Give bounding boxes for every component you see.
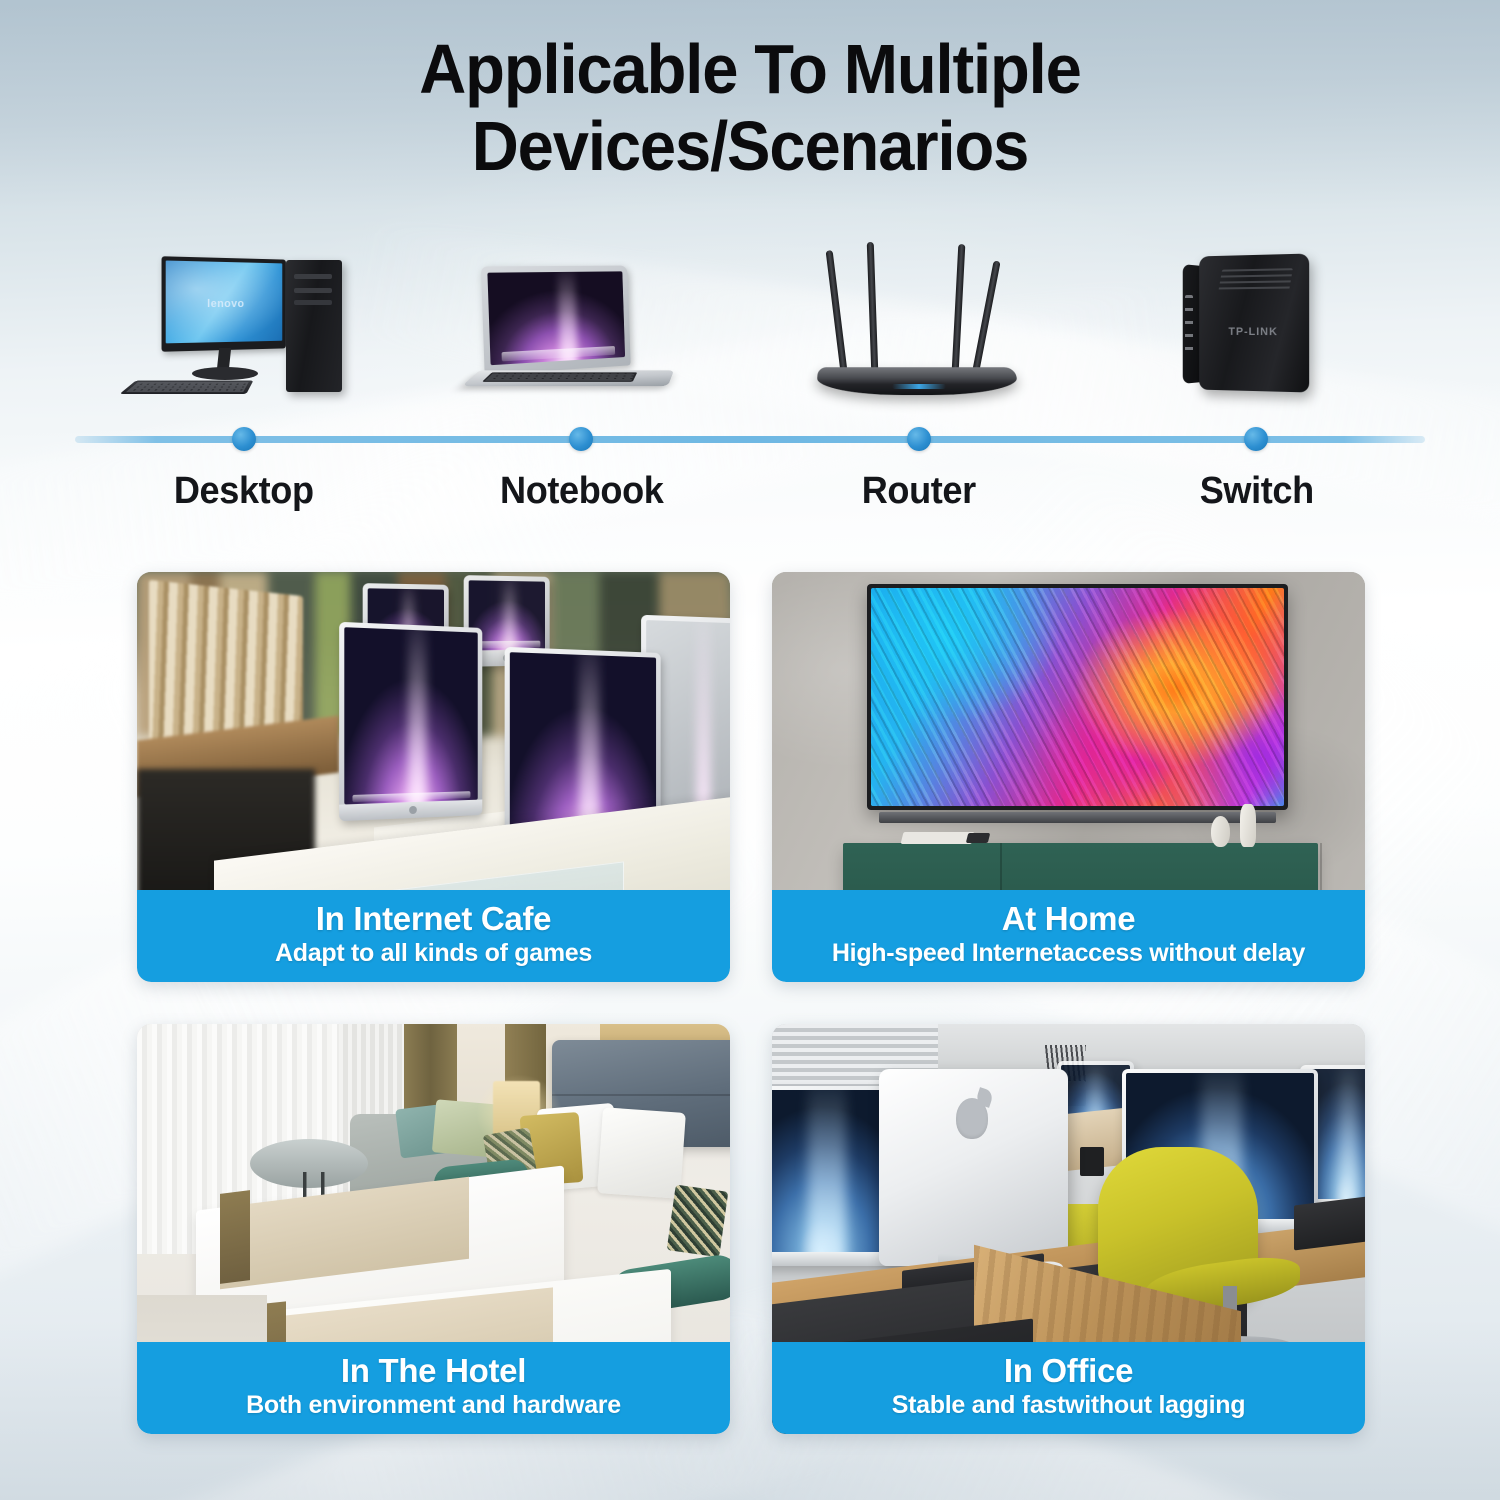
device-timeline <box>75 432 1425 446</box>
device-label-notebook: Notebook <box>421 470 742 522</box>
router-body <box>816 367 1018 395</box>
scenario-caption-in-office: In Office Stable and fastwithout lagging <box>772 1342 1365 1434</box>
scenario-card-in-office[interactable]: In Office Stable and fastwithout lagging <box>772 1024 1365 1434</box>
scenario-caption-at-home: At Home High-speed Internetaccess withou… <box>772 890 1365 982</box>
scenario-subtitle: High-speed Internetaccess without delay <box>786 939 1351 968</box>
router-antenna <box>973 260 1001 371</box>
scenario-card-row: In The Hotel Both environment and hardwa… <box>137 1024 1365 1434</box>
bed-runner-stripe <box>220 1190 250 1284</box>
screen-dock <box>501 346 614 361</box>
page-content: Applicable To Multiple Devices/Scenarios… <box>0 0 1500 1500</box>
router-led-strip <box>892 384 946 389</box>
device-illustration-row: lenovo <box>75 218 1425 414</box>
device-label-router: Router <box>758 470 1079 522</box>
scenario-caption-in-the-hotel: In The Hotel Both environment and hardwa… <box>137 1342 730 1434</box>
timeline-line <box>75 436 1425 443</box>
scenario-card-internet-cafe[interactable]: In Internet Cafe Adapt to all kinds of g… <box>137 572 730 982</box>
monitor-brand-label: lenovo <box>162 298 286 310</box>
device-label-desktop: Desktop <box>83 470 404 522</box>
scenario-card-at-home[interactable]: At Home High-speed Internetaccess withou… <box>772 572 1365 982</box>
page-title-line-2: Devices/Scenarios <box>53 111 1448 182</box>
scenario-title: In The Hotel <box>151 1353 716 1390</box>
switch-body: TP-LINK <box>1199 254 1309 393</box>
device-label-switch: Switch <box>1096 470 1417 522</box>
imac-icon <box>339 622 482 821</box>
network-switch-icon: TP-LINK <box>1169 249 1344 414</box>
scenario-card-row: In Internet Cafe Adapt to all kinds of g… <box>137 572 1365 982</box>
scenario-card-grid: In Internet Cafe Adapt to all kinds of g… <box>137 572 1365 1434</box>
device-cell-switch: TP-LINK <box>1088 218 1426 414</box>
router-antenna <box>867 242 879 372</box>
scenario-title: In Internet Cafe <box>151 901 716 938</box>
timeline-dot-desktop[interactable] <box>232 427 256 451</box>
device-cell-notebook <box>413 218 751 414</box>
wifi-router-icon <box>811 239 1026 414</box>
timeline-dot-notebook[interactable] <box>569 427 593 451</box>
scenario-subtitle: Adapt to all kinds of games <box>151 939 716 968</box>
desktop-computer-icon: lenovo <box>126 254 361 414</box>
device-cell-router <box>750 218 1088 414</box>
decorative-vase <box>1240 804 1255 847</box>
laptop-keyboard <box>482 372 637 382</box>
tv-remote <box>901 832 975 844</box>
switch-brand-label: TP-LINK <box>1199 326 1309 338</box>
television-icon <box>867 584 1288 810</box>
router-antenna <box>952 244 966 372</box>
router-antenna <box>826 250 848 372</box>
desk-cup <box>1080 1147 1104 1176</box>
scenario-caption-internet-cafe: In Internet Cafe Adapt to all kinds of g… <box>137 890 730 982</box>
scenario-title: At Home <box>786 901 1351 938</box>
scenario-card-in-the-hotel[interactable]: In The Hotel Both environment and hardwa… <box>137 1024 730 1434</box>
decorative-vase <box>1211 816 1230 847</box>
switch-led-indicators <box>1185 295 1193 357</box>
scenario-title: In Office <box>786 1353 1351 1390</box>
scenario-subtitle: Stable and fastwithout lagging <box>786 1391 1351 1420</box>
switch-vents <box>1218 268 1293 293</box>
timeline-dot-router[interactable] <box>907 427 931 451</box>
white-pillow <box>597 1107 686 1199</box>
device-label-row: Desktop Notebook Router Switch <box>75 470 1425 522</box>
laptop-computer-icon <box>469 264 694 414</box>
monitor-body: lenovo <box>162 256 286 352</box>
laptop-lid <box>481 266 631 375</box>
page-title-line-1: Applicable To Multiple <box>419 30 1080 108</box>
laptop-screen <box>487 271 625 365</box>
apple-logo-icon <box>956 1098 989 1139</box>
pc-tower <box>286 260 342 392</box>
keyboard-icon <box>120 381 254 394</box>
tv-screen-artwork <box>871 588 1284 806</box>
monitor-base <box>192 367 258 380</box>
device-cell-desktop: lenovo <box>75 218 413 414</box>
page-title: Applicable To Multiple Devices/Scenarios <box>53 34 1448 183</box>
desk-box <box>1294 1195 1365 1251</box>
scenario-subtitle: Both environment and hardware <box>151 1391 716 1420</box>
timeline-dot-switch[interactable] <box>1244 427 1268 451</box>
patterned-pillow <box>666 1185 728 1257</box>
